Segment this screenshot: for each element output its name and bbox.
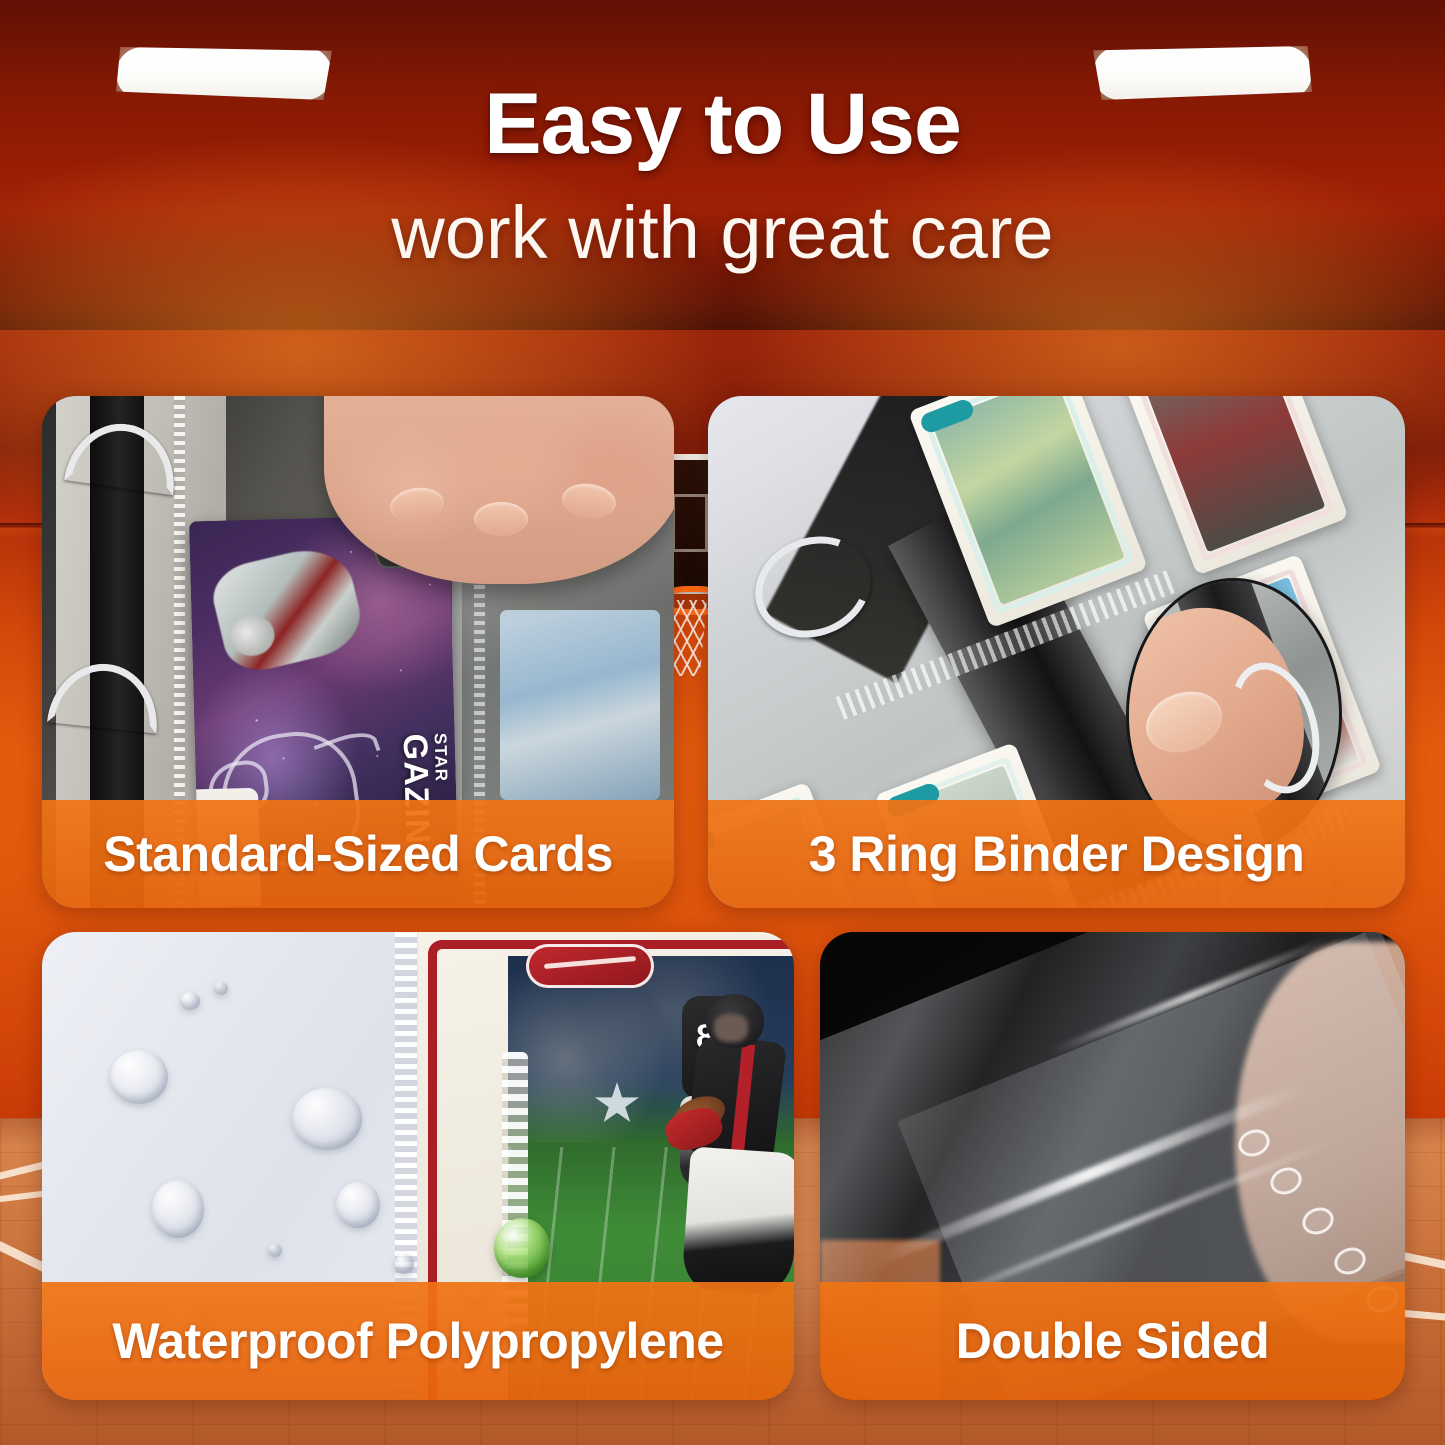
feature-caption-waterproof: Waterproof Polypropylene xyxy=(42,1282,794,1400)
feature-panel-standard-sized-cards[interactable]: STAR GAZING Standard-Sized Cards xyxy=(42,396,674,908)
feature-panel-waterproof[interactable]: 81 xyxy=(42,932,794,1400)
absolute-football-logo xyxy=(526,944,654,988)
feature-caption-standard-sized-cards: Standard-Sized Cards xyxy=(42,800,674,908)
fingernail xyxy=(560,480,618,521)
water-droplet xyxy=(394,1254,414,1274)
feature-caption-3-ring-binder: 3 Ring Binder Design xyxy=(708,800,1405,908)
page-headline: Easy to Use xyxy=(0,75,1445,174)
fingernail xyxy=(474,502,528,536)
water-droplet xyxy=(110,1050,168,1104)
feature-panel-3-ring-binder[interactable]: 3 Ring Binder Design xyxy=(708,396,1405,908)
water-droplet xyxy=(336,1182,380,1228)
trading-card-secondary xyxy=(500,610,660,800)
water-droplet xyxy=(268,1244,282,1257)
water-droplet xyxy=(152,1180,204,1238)
water-droplet xyxy=(214,982,228,995)
page-subheadline: work with great care xyxy=(0,190,1445,275)
player-helmet xyxy=(227,611,279,660)
fingernail xyxy=(388,484,446,525)
water-droplet xyxy=(292,1088,362,1150)
backboard-square xyxy=(672,494,708,552)
water-droplet-green xyxy=(494,1218,550,1278)
water-droplet xyxy=(180,992,200,1010)
product-feature-image: Easy to Use work with great care xyxy=(0,0,1445,1445)
feature-caption-double-sided: Double Sided xyxy=(820,1282,1405,1400)
feature-panel-double-sided[interactable]: Double Sided xyxy=(820,932,1405,1400)
